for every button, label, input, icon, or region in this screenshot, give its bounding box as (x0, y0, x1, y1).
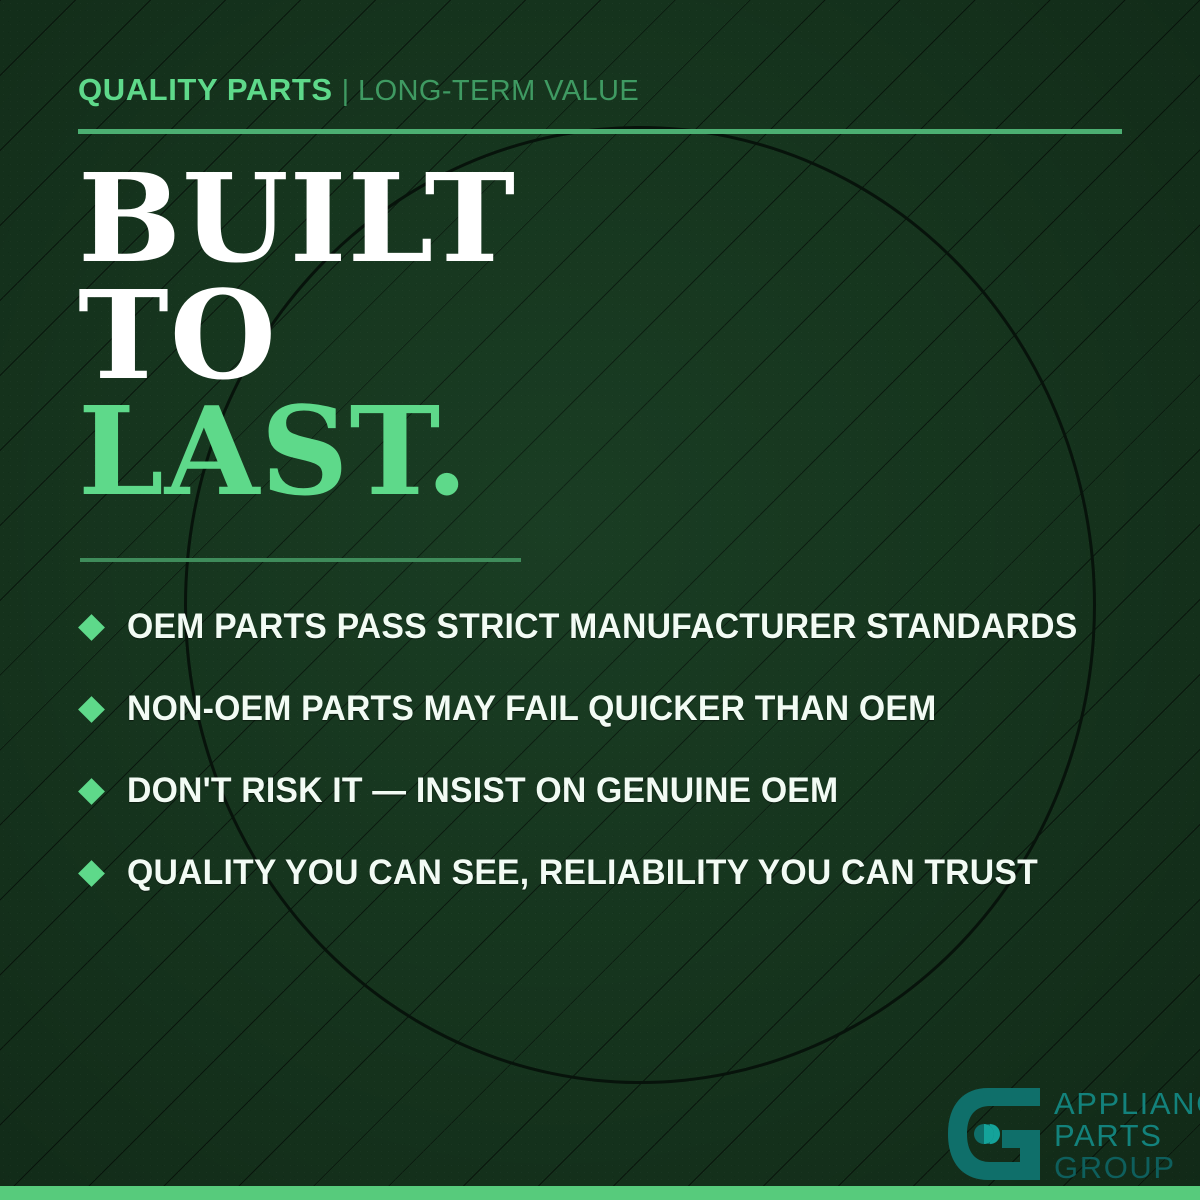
diamond-icon (78, 614, 105, 641)
g-monogram-icon (944, 1086, 1042, 1182)
list-item: OEM PARTS PASS STRICT MANUFACTURER STAND… (78, 586, 1148, 668)
diamond-icon (78, 778, 105, 805)
eyebrow-kicker: QUALITY PARTS (78, 72, 333, 107)
diamond-icon (78, 860, 105, 887)
headline-line-3: LAST. (78, 393, 778, 510)
diamond-icon (78, 696, 105, 723)
brand-word-2: PARTS (1054, 1120, 1200, 1152)
headline-line-1: BUILT (78, 160, 778, 277)
brand-word-3: GROUP (1054, 1152, 1200, 1184)
list-item: DON'T RISK IT — INSIST ON GENUINE OEM (78, 750, 1148, 832)
list-item: NON-OEM PARTS MAY FAIL QUICKER THAN OEM (78, 668, 1148, 750)
headline-divider-rule (80, 558, 521, 562)
promotional-poster: QUALITY PARTS| LONG-TERM VALUE BUILT TO … (0, 0, 1200, 1200)
list-item-label: NON-OEM PARTS MAY FAIL QUICKER THAN OEM (127, 689, 936, 729)
brand-logo: APPLIANCE PARTS GROUP (944, 1086, 1200, 1185)
list-item-label: QUALITY YOU CAN SEE, RELIABILITY YOU CAN… (127, 853, 1038, 893)
brand-word-1: APPLIANCE (1054, 1088, 1200, 1120)
list-item-label: OEM PARTS PASS STRICT MANUFACTURER STAND… (127, 607, 1077, 647)
bottom-accent-bar (0, 1186, 1200, 1200)
header-divider-rule (78, 129, 1122, 134)
brand-wordmark: APPLIANCE PARTS GROUP (1054, 1088, 1200, 1185)
headline-line-2: TO (78, 277, 778, 394)
eyebrow-subtitle: | LONG-TERM VALUE (342, 75, 639, 107)
eyebrow-header: QUALITY PARTS| LONG-TERM VALUE (78, 74, 639, 106)
benefit-list: OEM PARTS PASS STRICT MANUFACTURER STAND… (78, 586, 1148, 914)
list-item-label: DON'T RISK IT — INSIST ON GENUINE OEM (127, 771, 838, 811)
page-title: BUILT TO LAST. (78, 160, 778, 510)
list-item: QUALITY YOU CAN SEE, RELIABILITY YOU CAN… (78, 832, 1148, 914)
